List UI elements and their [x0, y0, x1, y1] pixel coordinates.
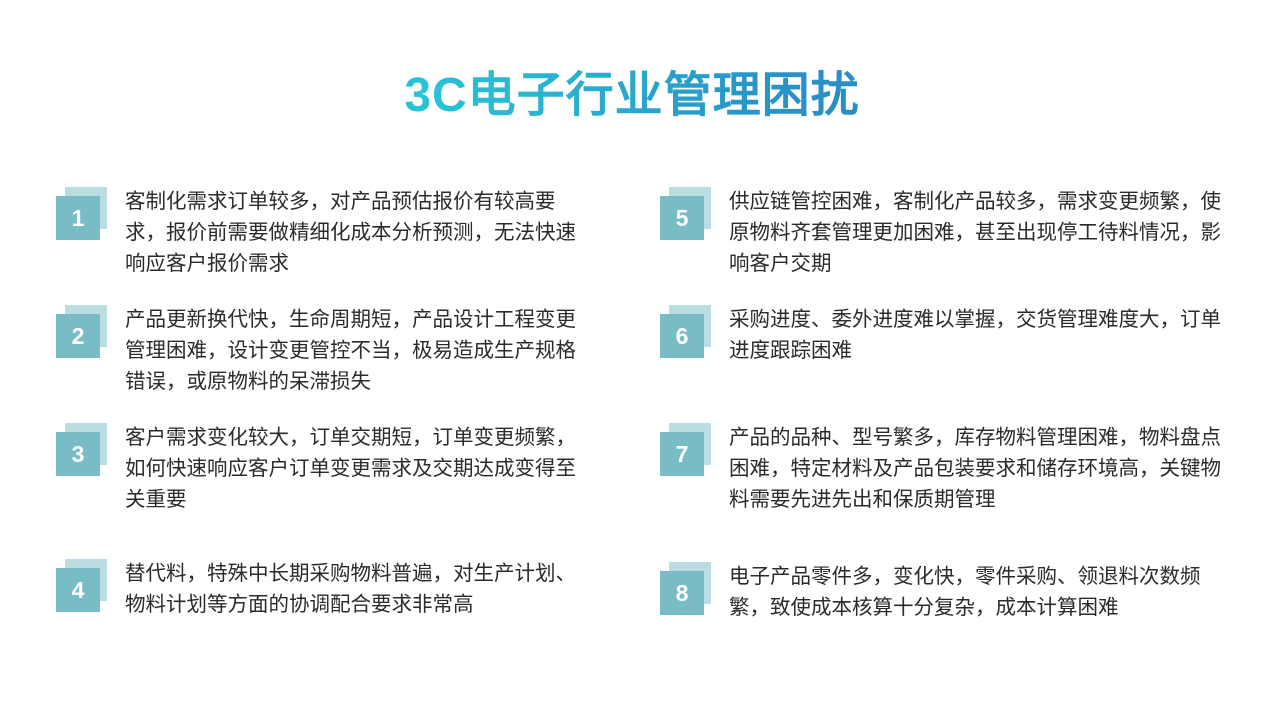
list-item: 8 电子产品零件多，变化快，零件采购、领退料次数频繁，致使成本核算十分复杂，成本… — [660, 561, 1221, 623]
list-item: 7 产品的品种、型号繁多，库存物料管理困难，物料盘点困难，特定材料及产品包装要求… — [660, 422, 1221, 515]
list-item-text: 供应链管控困难，客制化产品较多，需求变更频繁，使原物料齐套管理更加困难，甚至出现… — [729, 186, 1221, 279]
list-item-text: 电子产品零件多，变化快，零件采购、领退料次数频繁，致使成本核算十分复杂，成本计算… — [729, 561, 1221, 623]
slide-root: 3C电子行业管理困扰 1 客制化需求订单较多，对产品预估报价有较高要求，报价前需… — [0, 0, 1264, 710]
badge-number: 2 — [56, 314, 100, 358]
list-item: 1 客制化需求订单较多，对产品预估报价有较高要求，报价前需要做精细化成本分析预测… — [56, 186, 595, 279]
badge-number: 6 — [660, 314, 704, 358]
list-item: 5 供应链管控困难，客制化产品较多，需求变更频繁，使原物料齐套管理更加困难，甚至… — [660, 186, 1221, 279]
badge-number: 8 — [660, 571, 704, 615]
title-container: 3C电子行业管理困扰 — [0, 34, 1264, 158]
badge-number: 1 — [56, 196, 100, 240]
list-item-text: 产品更新换代快，生命周期短，产品设计工程变更管理困难，设计变更管控不当，极易造成… — [125, 304, 595, 397]
page-title: 3C电子行业管理困扰 — [404, 66, 859, 126]
list-item: 2 产品更新换代快，生命周期短，产品设计工程变更管理困难，设计变更管控不当，极易… — [56, 304, 595, 397]
number-badge: 5 — [660, 196, 708, 244]
number-badge: 4 — [56, 568, 104, 616]
content-columns: 1 客制化需求订单较多，对产品预估报价有较高要求，报价前需要做精细化成本分析预测… — [0, 186, 1264, 686]
list-item: 3 客户需求变化较大，订单交期短，订单变更频繁，如何快速响应客户订单变更需求及交… — [56, 422, 595, 515]
list-item-text: 采购进度、委外进度难以掌握，交货管理难度大，订单进度跟踪困难 — [729, 304, 1221, 366]
number-badge: 8 — [660, 571, 708, 619]
badge-number: 7 — [660, 432, 704, 476]
list-item-text: 客户需求变化较大，订单交期短，订单变更频繁，如何快速响应客户订单变更需求及交期达… — [125, 422, 595, 515]
badge-number: 4 — [56, 568, 100, 612]
list-item-text: 客制化需求订单较多，对产品预估报价有较高要求，报价前需要做精细化成本分析预测，无… — [125, 186, 595, 279]
number-badge: 1 — [56, 196, 104, 244]
list-item: 6 采购进度、委外进度难以掌握，交货管理难度大，订单进度跟踪困难 — [660, 304, 1221, 366]
number-badge: 7 — [660, 432, 708, 480]
list-item: 4 替代料，特殊中长期采购物料普遍，对生产计划、物料计划等方面的协调配合要求非常… — [56, 558, 595, 620]
list-item-text: 替代料，特殊中长期采购物料普遍，对生产计划、物料计划等方面的协调配合要求非常高 — [125, 558, 595, 620]
number-badge: 3 — [56, 432, 104, 480]
badge-number: 3 — [56, 432, 100, 476]
list-item-text: 产品的品种、型号繁多，库存物料管理困难，物料盘点困难，特定材料及产品包装要求和储… — [729, 422, 1221, 515]
badge-number: 5 — [660, 196, 704, 240]
number-badge: 6 — [660, 314, 708, 362]
number-badge: 2 — [56, 314, 104, 362]
